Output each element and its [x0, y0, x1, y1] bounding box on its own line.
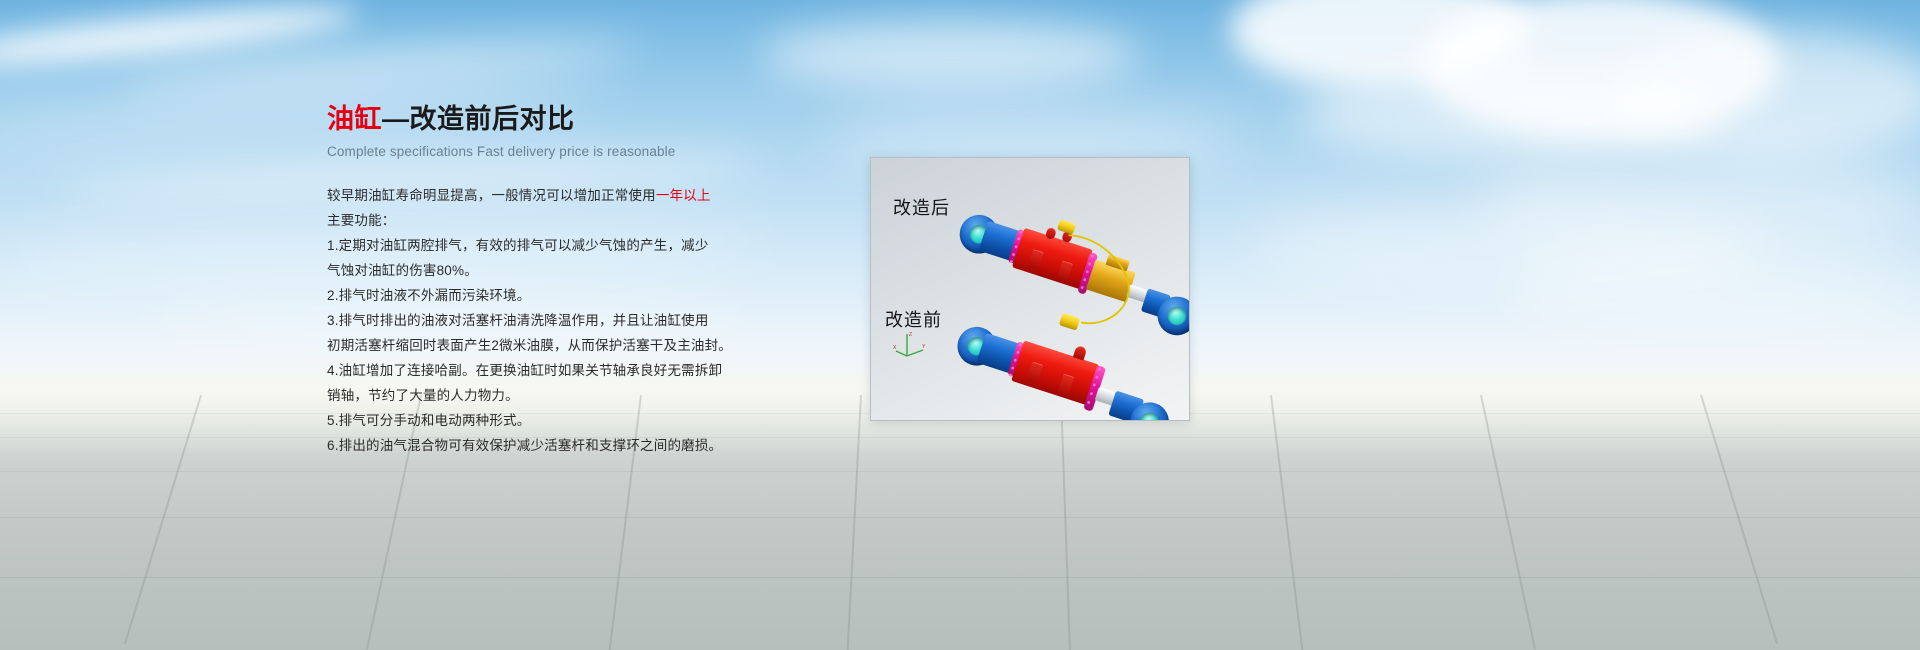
page-title: 油缸—改造前后对比 [327, 104, 757, 135]
axis-gizmo-icon: Z X Y [893, 330, 927, 360]
body-line-emphasis: 一年以上 [656, 188, 711, 203]
body-line: 初期活塞杆缩回时表面产生2微米油膜，从而保护活塞干及主油封。 [327, 333, 757, 358]
pavement-joint-h3 [0, 471, 1920, 472]
feature-text-block: 较早期油缸寿命明显提高，一般情况可以增加正常使用一年以上 主要功能： 1.定期对… [327, 183, 757, 458]
body-line: 5.排气可分手动和电动两种形式。 [327, 408, 757, 433]
cylinder-barrel [1011, 340, 1099, 405]
svg-text:Y: Y [922, 344, 926, 350]
cylinder-front-bore [1165, 304, 1188, 327]
page-title-accent: 油缸 [327, 104, 382, 134]
svg-text:Z: Z [909, 332, 912, 338]
page-title-rest: —改造前后对比 [382, 104, 575, 134]
body-line: 3.排气时排出的油液对活塞杆油清洗降温作用，并且让油缸使用 [327, 308, 757, 333]
body-line: 主要功能： [327, 208, 757, 233]
body-line: 销轴，节约了大量的人力物力。 [327, 383, 757, 408]
page-subtitle: Complete specifications Fast delivery pr… [327, 144, 757, 159]
pavement-joint-h4 [0, 517, 1920, 518]
body-line: 6.排出的油气混合物可有效保护减少活塞杆和支撑环之间的磨损。 [327, 433, 757, 458]
banner-stage: 油缸—改造前后对比 Complete specifications Fast d… [0, 0, 1920, 650]
body-line: 较早期油缸寿命明显提高，一般情况可以增加正常使用一年以上 [327, 183, 757, 208]
svg-text:X: X [893, 345, 897, 351]
body-line: 1.定期对油缸两腔排气，有效的排气可以减少气蚀的产生，减少 [327, 233, 757, 258]
body-line: 气蚀对油缸的伤害80%。 [327, 258, 757, 283]
label-after-retrofit: 改造后 [893, 194, 950, 220]
body-line: 2.排气时油液不外漏而污染环境。 [327, 283, 757, 308]
label-before-retrofit: 改造前 [885, 306, 942, 332]
body-line: 4.油缸增加了连接哈副。在更换油缸时如果关节轴承良好无需拆卸 [327, 358, 757, 383]
pavement [0, 385, 1920, 650]
body-line-text: 较早期油缸寿命明显提高，一般情况可以增加正常使用 [327, 188, 656, 203]
banner-copy: 油缸—改造前后对比 Complete specifications Fast d… [327, 104, 757, 458]
cylinder-front-bore [1138, 410, 1161, 421]
pavement-joint-h5 [0, 577, 1920, 578]
product-comparison-panel: 改造后 改造前 Z X Y [870, 157, 1190, 421]
pavement-joint-h2 [0, 437, 1920, 438]
